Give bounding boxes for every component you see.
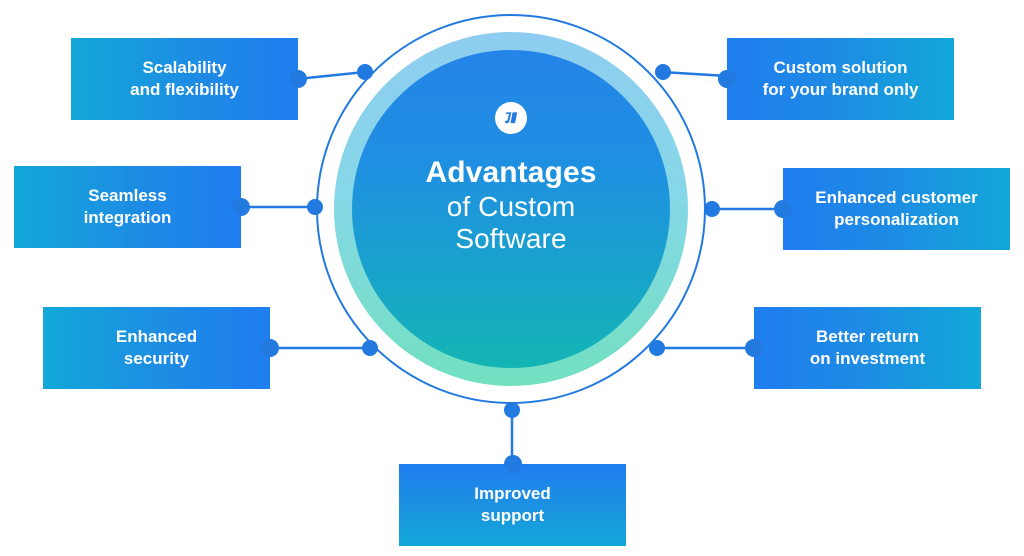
node-label-scalability-line1: Scalability xyxy=(142,58,226,77)
connector-nub-security xyxy=(261,339,279,357)
node-label-security-line1: Enhanced xyxy=(116,327,197,346)
node-label-custom-solution-line2: for your brand only xyxy=(763,80,919,99)
node-label-support-line1: Improved xyxy=(474,484,551,503)
node-dot-scalability[interactable] xyxy=(357,64,373,80)
connector-nub-scalability xyxy=(289,70,307,88)
node-label-roi-line1: Better return xyxy=(816,327,919,346)
node-dot-custom-solution[interactable] xyxy=(655,64,671,80)
node-label-scalability-line2: and flexibility xyxy=(130,80,239,99)
hub-title-line2: of Custom xyxy=(425,191,596,223)
node-label-roi: Better return on investment xyxy=(810,326,925,370)
node-label-personalization: Enhanced customer personalization xyxy=(815,187,978,231)
node-label-personalization-line2: personalization xyxy=(834,210,959,229)
node-box-security[interactable]: Enhanced security xyxy=(43,307,270,389)
connector-line-custom-solution xyxy=(662,72,727,76)
connector-nub-personalization xyxy=(774,200,792,218)
node-label-personalization-line1: Enhanced customer xyxy=(815,188,978,207)
node-dot-seamless[interactable] xyxy=(307,199,323,215)
node-label-custom-solution: Custom solution for your brand only xyxy=(763,57,919,101)
node-dot-personalization[interactable] xyxy=(704,201,720,217)
node-label-security: Enhanced security xyxy=(116,326,197,370)
node-dot-security[interactable] xyxy=(362,340,378,356)
brand-logo-icon xyxy=(495,102,527,134)
node-label-scalability: Scalability and flexibility xyxy=(130,57,239,101)
connector-line-scalability xyxy=(297,72,365,79)
node-label-security-line2: security xyxy=(124,349,189,368)
node-dot-support[interactable] xyxy=(504,402,520,418)
node-dot-roi[interactable] xyxy=(649,340,665,356)
connector-nub-roi xyxy=(745,339,763,357)
node-label-seamless: Seamless integration xyxy=(84,185,172,229)
node-label-support: Improved support xyxy=(474,483,551,527)
node-label-seamless-line1: Seamless xyxy=(88,186,166,205)
node-label-support-line2: support xyxy=(481,506,544,525)
hub-core: Advantages of Custom Software xyxy=(352,50,670,368)
node-box-support[interactable]: Improved support xyxy=(399,464,626,546)
node-box-roi[interactable]: Better return on investment xyxy=(754,307,981,389)
connector-nub-seamless xyxy=(232,198,250,216)
node-label-seamless-line2: integration xyxy=(84,208,172,227)
connector-nub-support xyxy=(504,455,522,473)
node-box-custom-solution[interactable]: Custom solution for your brand only xyxy=(727,38,954,120)
node-box-scalability[interactable]: Scalability and flexibility xyxy=(71,38,298,120)
connector-nub-custom-solution xyxy=(718,70,736,88)
node-box-seamless[interactable]: Seamless integration xyxy=(14,166,241,248)
node-label-custom-solution-line1: Custom solution xyxy=(773,58,907,77)
hub-title-line1: Advantages xyxy=(425,156,596,191)
hub-title-line3: Software xyxy=(425,223,596,255)
node-label-roi-line2: on investment xyxy=(810,349,925,368)
hub-title: Advantages of Custom Software xyxy=(425,156,596,256)
node-box-personalization[interactable]: Enhanced customer personalization xyxy=(783,168,1010,250)
infographic-canvas: Advantages of Custom Software Scalabilit… xyxy=(0,0,1024,556)
